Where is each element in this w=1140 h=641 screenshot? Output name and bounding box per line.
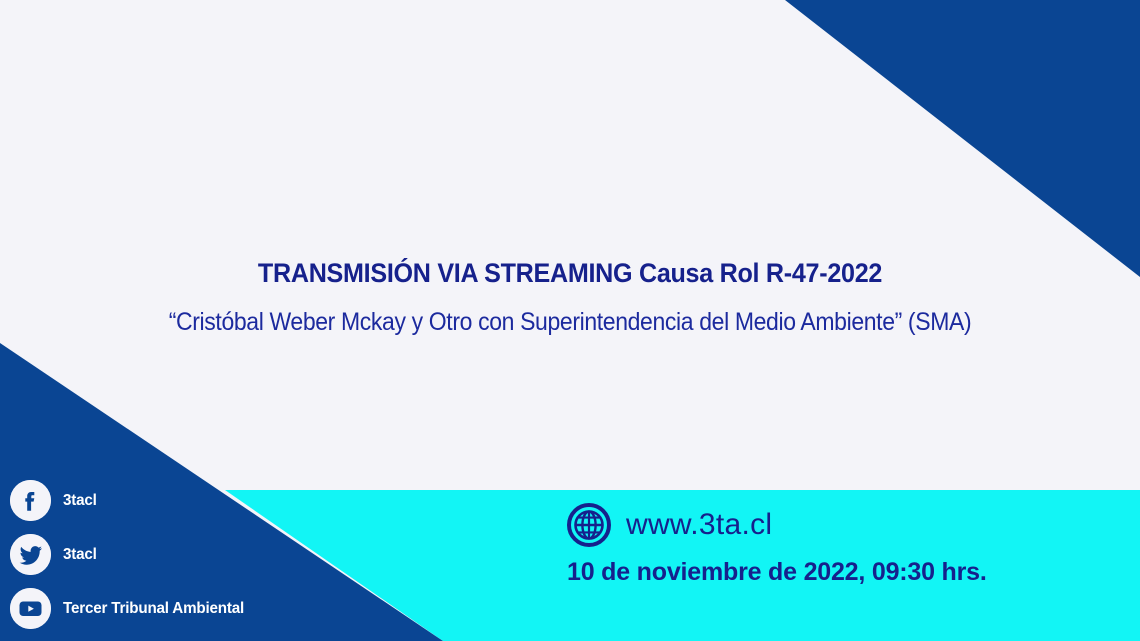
globe-icon (567, 503, 611, 547)
streaming-announcement-slide: TRANSMISIÓN VIA STREAMING Causa Rol R-47… (0, 0, 1140, 641)
social-link-twitter[interactable]: 3tacl (10, 534, 254, 575)
headline-block: TRANSMISIÓN VIA STREAMING Causa Rol R-47… (0, 258, 1140, 337)
event-title: TRANSMISIÓN VIA STREAMING Causa Rol R-47… (40, 258, 1100, 289)
social-handle-youtube: Tercer Tribunal Ambiental (63, 600, 244, 618)
case-name: “Cristóbal Weber Mckay y Otro con Superi… (46, 308, 1095, 337)
social-links-list: 3tacl 3tacl Tercer Tribunal Ambiental (10, 480, 254, 629)
social-handle-facebook: 3tacl (63, 492, 97, 510)
social-link-facebook[interactable]: 3tacl (10, 480, 254, 521)
event-datetime: 10 de noviembre de 2022, 09:30 hrs. (567, 558, 987, 587)
footer-info: www.3ta.cl 10 de noviembre de 2022, 09:3… (567, 503, 987, 587)
social-link-youtube[interactable]: Tercer Tribunal Ambiental (10, 588, 254, 629)
social-handle-twitter: 3tacl (63, 546, 97, 564)
website-url[interactable]: www.3ta.cl (626, 508, 772, 542)
facebook-icon (10, 480, 51, 521)
twitter-icon (10, 534, 51, 575)
youtube-icon (10, 588, 51, 629)
website-row[interactable]: www.3ta.cl (567, 503, 987, 547)
